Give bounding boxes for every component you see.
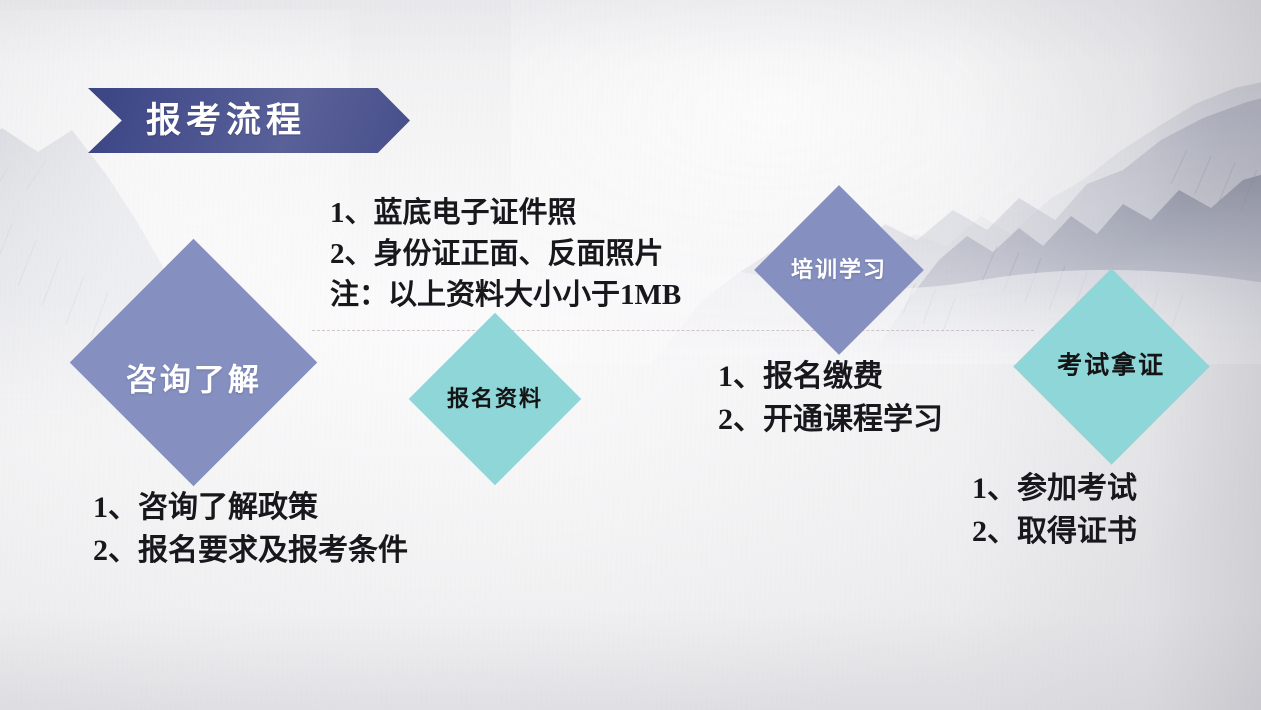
note-line: 2、身份证正面、反面照片 xyxy=(330,234,681,275)
note-line: 1、蓝底电子证件照 xyxy=(330,193,681,234)
step-diamond-label: 咨询了解 xyxy=(126,364,262,395)
step-notes-consult: 1、咨询了解政策 2、报名要求及报考条件 xyxy=(93,487,408,572)
note-line: 2、报名要求及报考条件 xyxy=(93,530,408,573)
note-line: 1、参加考试 xyxy=(972,468,1137,511)
note-line: 1、咨询了解政策 xyxy=(93,487,408,530)
page-title: 报考流程 xyxy=(146,103,306,138)
step-notes-training: 1、报名缴费 2、开通课程学习 xyxy=(718,356,943,441)
note-line: 2、开通课程学习 xyxy=(718,399,943,442)
step-diamond-label: 考试拿证 xyxy=(1057,354,1165,379)
flow-connector-line xyxy=(312,330,1034,331)
note-line: 注：以上资料大小小于1MB xyxy=(330,275,681,316)
note-line: 2、取得证书 xyxy=(972,511,1137,554)
title-banner: 报考流程 xyxy=(88,88,410,153)
step-diamond-label: 培训学习 xyxy=(791,259,887,281)
step-notes-materials: 1、蓝底电子证件照 2、身份证正面、反面照片 注：以上资料大小小于1MB xyxy=(330,193,681,317)
step-notes-exam: 1、参加考试 2、取得证书 xyxy=(972,468,1137,553)
slide-canvas: 报考流程 咨询了解 报名资料 培训学习 考试拿证 1、蓝底电子证件照 2、身份证… xyxy=(0,0,1261,710)
note-line: 1、报名缴费 xyxy=(718,356,943,399)
step-diamond-label: 报名资料 xyxy=(447,388,543,410)
